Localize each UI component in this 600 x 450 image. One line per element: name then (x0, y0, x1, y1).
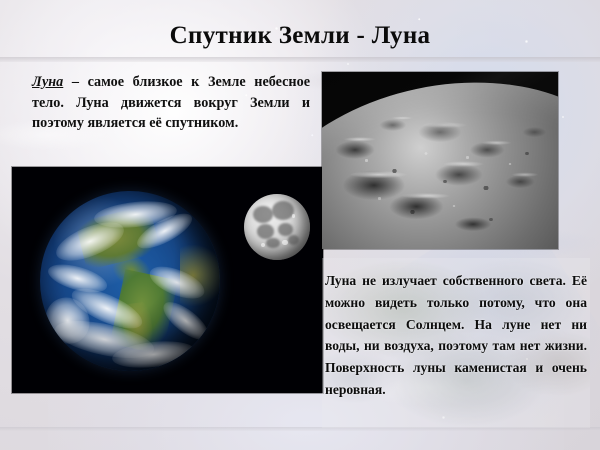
moon-globe (244, 194, 310, 260)
earth-globe (40, 191, 220, 371)
lunar-mare (266, 238, 279, 249)
lunar-mare (278, 223, 293, 236)
earth-moon-photo (12, 167, 323, 393)
lunar-photo-speckle (322, 72, 558, 249)
lunar-crater (282, 240, 287, 245)
background-divider-band-top (0, 57, 600, 62)
lunar-mare (272, 201, 294, 221)
paragraph-moon-definition-text: – самое близкое к Земле небесное тело. Л… (32, 74, 310, 131)
slide-title: Спутник Земли - Луна (0, 22, 600, 50)
earth-terminator-shadow (40, 191, 220, 371)
paragraph-moon-light-block: Луна не излучает собственного света. Её … (322, 258, 590, 428)
lunar-crater (292, 214, 296, 218)
lunar-mare (257, 224, 274, 239)
lunar-mare (288, 235, 300, 246)
paragraph-moon-light: Луна не излучает собственного света. Её … (325, 270, 587, 401)
lunar-mare (253, 206, 273, 223)
keyword-luna: Луна (32, 74, 63, 90)
slide: Спутник Земли - Луна Луна – самое близко… (0, 0, 600, 450)
lunar-crater (261, 243, 265, 247)
paragraph-moon-definition: Луна – самое близкое к Земле небесное те… (32, 72, 310, 134)
lunar-surface-photo (322, 72, 558, 249)
